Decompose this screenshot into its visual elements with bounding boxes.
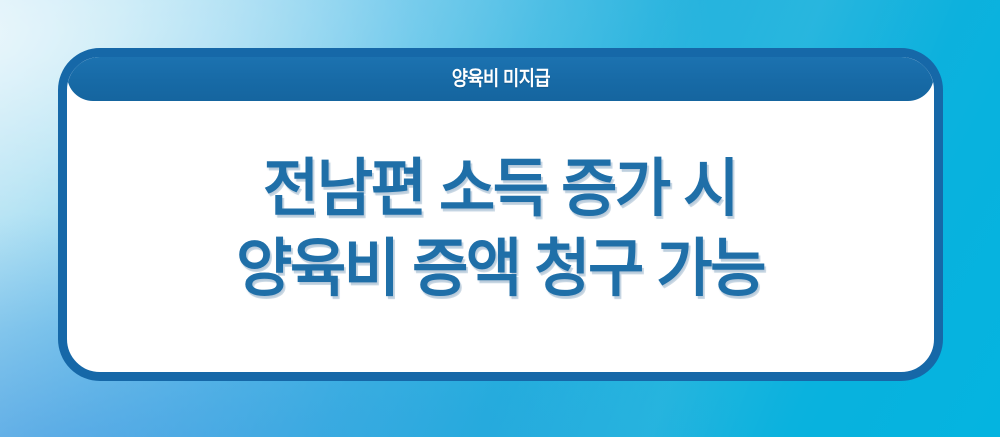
card-header-label: 양육비 미지급 [451,69,549,89]
info-card: 양육비 미지급 전남편 소득 증가 시 양육비 증액 청구 가능 [58,48,943,381]
promo-card-canvas: 양육비 미지급 전남편 소득 증가 시 양육비 증액 청구 가능 [0,0,1000,437]
headline-line-2: 양육비 증액 청구 가능 [237,231,765,308]
headline: 전남편 소득 증가 시 양육비 증액 청구 가능 [228,151,772,308]
card-body: 전남편 소득 증가 시 양육비 증액 청구 가능 [67,101,934,372]
card-header-band: 양육비 미지급 [67,57,934,101]
headline-line-1: 전남편 소득 증가 시 [237,151,765,228]
